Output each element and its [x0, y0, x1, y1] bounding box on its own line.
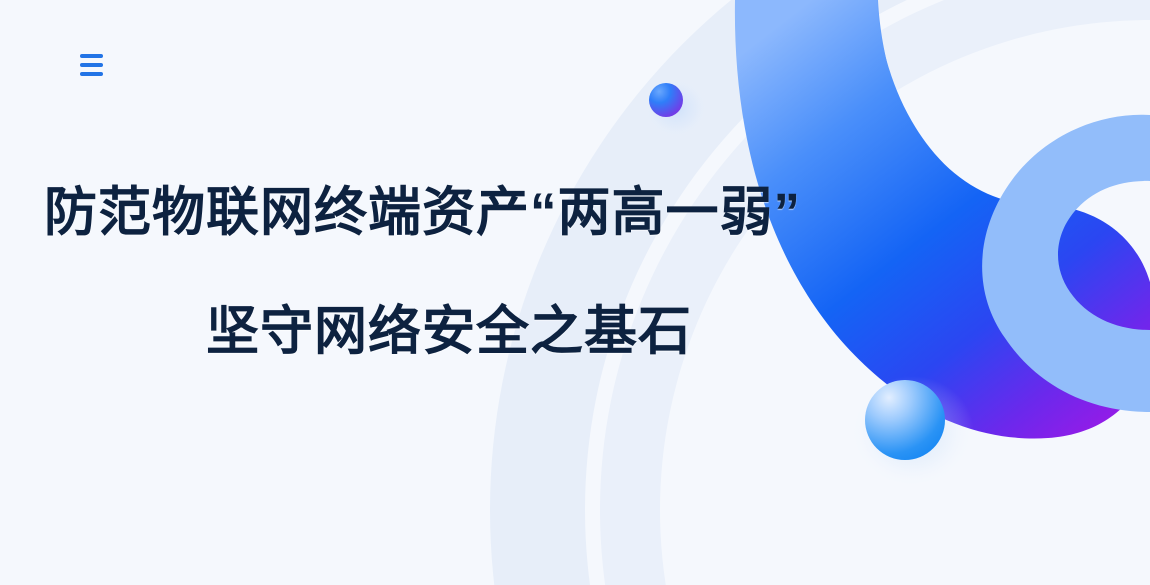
small-gradient-sphere — [649, 83, 683, 117]
slide-canvas: 防范物联网终端资产“两高一弱” 坚守网络安全之基石 — [0, 0, 1150, 585]
slide-title-line-2: 坚守网络安全之基石 — [206, 305, 860, 358]
hamburger-menu-button[interactable] — [80, 48, 116, 82]
inner-light-blue-arc — [982, 115, 1150, 412]
slide-title-line-1: 防范物联网终端资产“两高一弱” — [44, 186, 860, 239]
large-gradient-sphere — [865, 380, 945, 460]
hamburger-menu-icon-bar-3 — [80, 72, 103, 76]
hamburger-menu-icon-bar-1 — [80, 54, 103, 58]
large-sphere-glow — [850, 376, 974, 488]
hamburger-menu-icon-bar-2 — [80, 63, 103, 67]
small-sphere-glow — [642, 76, 710, 140]
slide-title-block: 防范物联网终端资产“两高一弱” 坚守网络安全之基石 — [0, 186, 860, 358]
